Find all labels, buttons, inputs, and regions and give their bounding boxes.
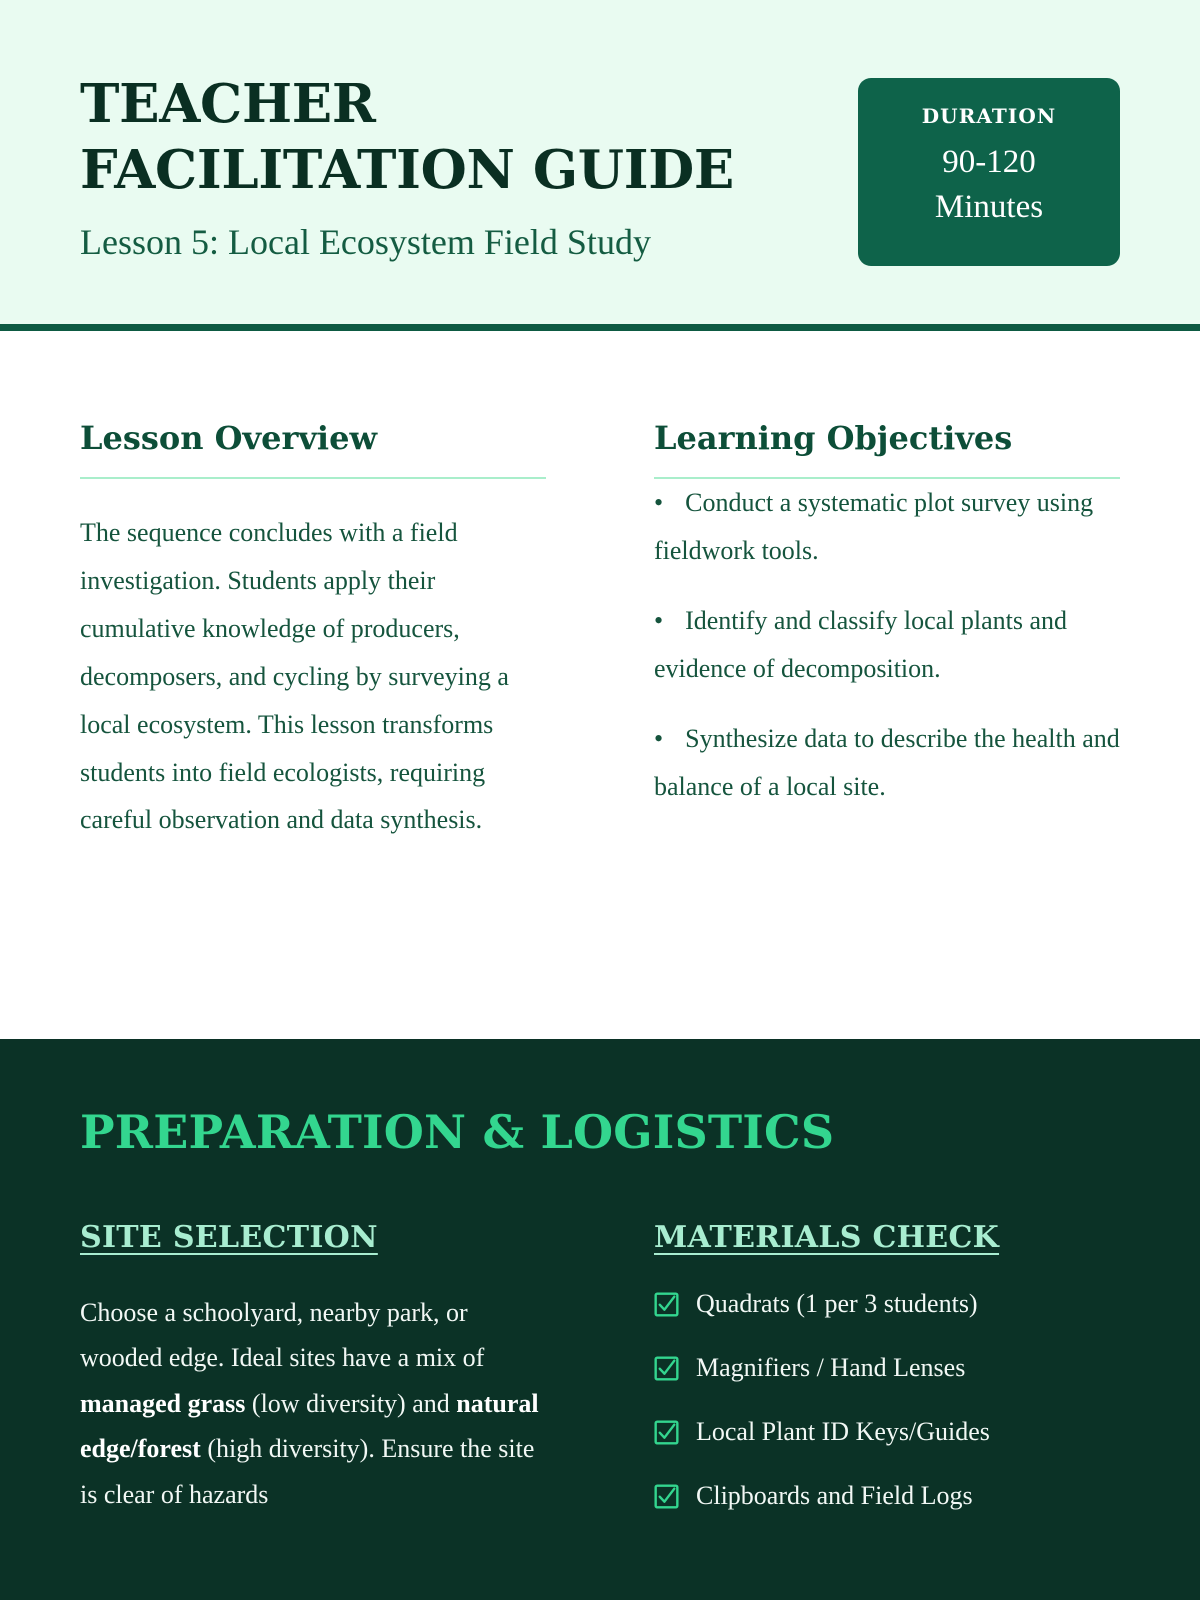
- page-subtitle: Lesson 5: Local Ecosystem Field Study: [80, 221, 822, 264]
- site-selection-bold-1: managed grass: [80, 1389, 245, 1418]
- checkbox-checked-icon[interactable]: [654, 1420, 679, 1445]
- list-item-label: Identify and classify local plants and e…: [654, 606, 1067, 683]
- learning-objectives-column: Learning Objectives •Conduct a systemati…: [654, 419, 1120, 1039]
- site-selection-column: SITE SELECTION Choose a schoolyard, near…: [80, 1220, 546, 1542]
- bullet-icon: •: [654, 488, 663, 517]
- facilitation-guide-page: TEACHER FACILITATION GUIDE Lesson 5: Loc…: [0, 0, 1200, 1600]
- site-selection-heading: SITE SELECTION: [80, 1220, 546, 1256]
- site-selection-text-part2: (low diversity) and: [245, 1389, 456, 1418]
- learning-objectives-list: •Conduct a systematic plot survey using …: [654, 479, 1120, 810]
- materials-check-list: Quadrats (1 per 3 students) Magnifiers /…: [654, 1286, 1120, 1513]
- duration-value-line1: 90-120: [942, 140, 1036, 185]
- duration-label: DURATION: [922, 104, 1057, 128]
- header-text-block: TEACHER FACILITATION GUIDE Lesson 5: Loc…: [80, 72, 822, 265]
- list-item[interactable]: Quadrats (1 per 3 students): [654, 1286, 1120, 1321]
- bullet-icon: •: [654, 724, 663, 753]
- checkbox-checked-icon[interactable]: [654, 1292, 679, 1317]
- list-item-label: Quadrats (1 per 3 students): [696, 1286, 978, 1321]
- lesson-overview-heading: Lesson Overview: [80, 419, 546, 479]
- lesson-overview-column: Lesson Overview The sequence concludes w…: [80, 419, 546, 1039]
- list-item: •Conduct a systematic plot survey using …: [654, 479, 1120, 575]
- learning-objectives-heading: Learning Objectives: [654, 419, 1120, 479]
- list-item[interactable]: Local Plant ID Keys/Guides: [654, 1414, 1120, 1449]
- list-item[interactable]: Clipboards and Field Logs: [654, 1478, 1120, 1513]
- checkbox-checked-icon[interactable]: [654, 1484, 679, 1509]
- list-item: •Identify and classify local plants and …: [654, 597, 1120, 693]
- page-header: TEACHER FACILITATION GUIDE Lesson 5: Loc…: [0, 0, 1200, 331]
- list-item-label: Magnifiers / Hand Lenses: [696, 1350, 965, 1385]
- bullet-icon: •: [654, 606, 663, 635]
- site-selection-text-part1: Choose a schoolyard, nearby park, or woo…: [80, 1298, 484, 1373]
- light-body-section: Lesson Overview The sequence concludes w…: [0, 331, 1200, 1039]
- lesson-overview-text: The sequence concludes with a field inve…: [80, 509, 546, 844]
- duration-badge: DURATION 90-120 Minutes: [858, 78, 1120, 266]
- list-item-label: Synthesize data to describe the health a…: [654, 724, 1120, 801]
- list-item-label: Local Plant ID Keys/Guides: [696, 1414, 990, 1449]
- preparation-columns: SITE SELECTION Choose a schoolyard, near…: [80, 1220, 1120, 1542]
- preparation-section-title: PREPARATION & LOGISTICS: [80, 1107, 1120, 1158]
- page-title: TEACHER FACILITATION GUIDE: [80, 72, 780, 203]
- duration-value-line2: Minutes: [935, 185, 1043, 230]
- list-item[interactable]: Magnifiers / Hand Lenses: [654, 1350, 1120, 1385]
- list-item-label: Conduct a systematic plot survey using f…: [654, 488, 1093, 565]
- site-selection-text: Choose a schoolyard, nearby park, or woo…: [80, 1290, 546, 1518]
- list-item: •Synthesize data to describe the health …: [654, 715, 1120, 811]
- preparation-section: PREPARATION & LOGISTICS SITE SELECTION C…: [0, 1039, 1200, 1600]
- materials-check-column: MATERIALS CHECK Quadrats (1 per 3 studen…: [654, 1220, 1120, 1542]
- checkbox-checked-icon[interactable]: [654, 1356, 679, 1381]
- materials-check-heading: MATERIALS CHECK: [654, 1220, 1120, 1256]
- list-item-label: Clipboards and Field Logs: [696, 1478, 973, 1513]
